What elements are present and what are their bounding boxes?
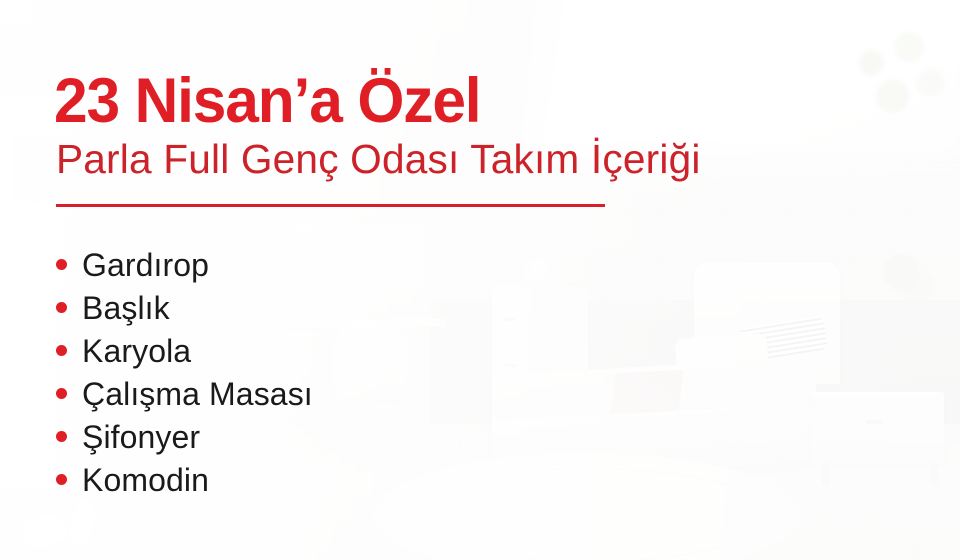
bullet-dot-icon bbox=[56, 388, 67, 399]
bullet-dot-icon bbox=[56, 474, 67, 485]
feature-label: Çalışma Masası bbox=[82, 378, 313, 410]
bullet-dot-icon bbox=[56, 302, 67, 313]
bullet-dot-icon bbox=[56, 431, 67, 442]
bullet-dot-icon bbox=[56, 259, 67, 270]
list-item: Şifonyer bbox=[56, 415, 313, 458]
promo-subtitle: Parla Full Genç Odası Takım İçeriği bbox=[56, 139, 701, 180]
feature-list: Gardırop Başlık Karyola Çalışma Masası Ş… bbox=[56, 243, 313, 501]
feature-label: Karyola bbox=[82, 335, 191, 367]
red-divider-rule bbox=[56, 204, 605, 207]
list-item: Çalışma Masası bbox=[56, 372, 313, 415]
promo-banner: 23 Nisan’a Özel Parla Full Genç Odası Ta… bbox=[0, 0, 960, 560]
feature-label: Başlık bbox=[82, 292, 170, 324]
feature-label: Gardırop bbox=[82, 249, 209, 281]
list-item: Komodin bbox=[56, 458, 313, 501]
promo-content: 23 Nisan’a Özel Parla Full Genç Odası Ta… bbox=[0, 0, 960, 560]
list-item: Başlık bbox=[56, 286, 313, 329]
feature-label: Komodin bbox=[82, 464, 209, 496]
bullet-dot-icon bbox=[56, 345, 67, 356]
list-item: Gardırop bbox=[56, 243, 313, 286]
promo-headline: 23 Nisan’a Özel bbox=[54, 70, 480, 133]
list-item: Karyola bbox=[56, 329, 313, 372]
feature-label: Şifonyer bbox=[82, 421, 200, 453]
